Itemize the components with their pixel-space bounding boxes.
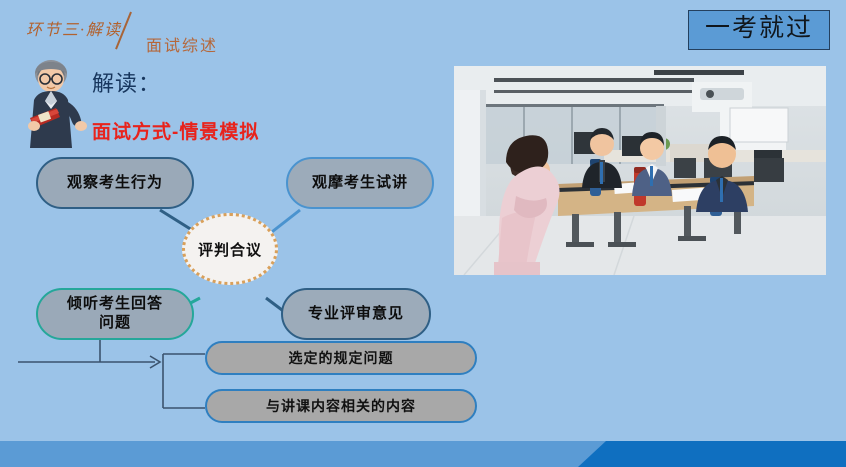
mindmap-node-listen-answers[interactable]: 倾听考生回答 问题 — [36, 288, 194, 340]
mindmap-node-observe-behavior[interactable]: 观察考生行为 — [36, 157, 194, 209]
mindmap-node-professional-opinion[interactable]: 专业评审意见 — [281, 288, 431, 340]
brand-label: 一考就过 — [705, 15, 813, 42]
node-label: 观摩考生试讲 — [312, 174, 408, 193]
node-label: 专业评审意见 — [308, 305, 404, 324]
mindmap-bar-selected-questions[interactable]: 选定的规定问题 — [205, 341, 477, 375]
teacher-with-book-icon — [18, 56, 90, 148]
bottom-banner — [0, 441, 846, 467]
page-title: 解读： — [92, 66, 161, 98]
brand-badge: 一考就过 — [688, 10, 830, 50]
node-label: 倾听考生回答 问题 — [67, 295, 163, 333]
mindmap-bar-related-content[interactable]: 与讲课内容相关的内容 — [205, 389, 477, 423]
node-label: 观察考生行为 — [67, 174, 163, 193]
bar-label: 与讲课内容相关的内容 — [266, 396, 416, 416]
breadcrumb: 环节三·解读 面试综述 — [26, 14, 286, 58]
interview-room-photo — [454, 66, 826, 275]
header-subject-label: 面试综述 — [146, 32, 218, 56]
mindmap-node-watch-trial-lecture[interactable]: 观摩考生试讲 — [286, 157, 434, 209]
mindmap-center-node[interactable]: 评判合议 — [182, 213, 278, 285]
bar-label: 选定的规定问题 — [289, 348, 394, 368]
center-node-label: 评判合议 — [198, 239, 262, 260]
header-section-label: 环节三·解读 — [26, 16, 122, 40]
slide-root: 环节三·解读 面试综述 一考就过 解读： 面试方式-情 — [0, 0, 846, 467]
